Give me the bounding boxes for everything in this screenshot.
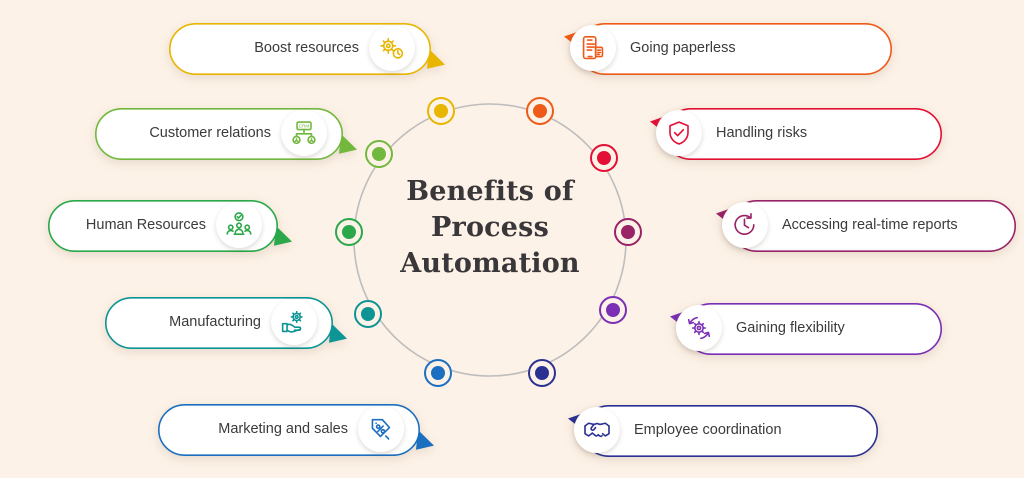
discount-tag-icon [366, 415, 396, 443]
benefit-label-gaining-flexibility: Gaining flexibility [736, 321, 845, 336]
circle-node-manufacturing[interactable] [354, 300, 382, 328]
shield-check-icon [664, 119, 694, 147]
circle-node-going-paperless[interactable] [526, 97, 554, 125]
gears-clock-icon [369, 25, 415, 71]
benefit-label-human-resources: Human Resources [86, 218, 206, 233]
benefit-pill-going-paperless[interactable]: Going paperless [566, 22, 880, 74]
clock-refresh-icon [722, 202, 768, 248]
benefit-pill-human-resources[interactable]: Human Resources [36, 199, 266, 251]
benefit-label-accessing-real-time-reports: Accessing real-time reports [782, 218, 958, 233]
infographic-canvas: Benefits of Process Automation Boost res… [0, 0, 1024, 478]
benefit-pill-handling-risks[interactable]: Handling risks [652, 107, 930, 159]
node-dot-icon [342, 225, 356, 239]
node-dot-icon [621, 225, 635, 239]
page-title: Benefits of Process Automation [372, 174, 608, 282]
benefit-label-customer-relations: Customer relations [149, 126, 271, 141]
node-dot-icon [597, 151, 611, 165]
discount-tag-icon [358, 406, 404, 452]
circle-node-marketing-and-sales[interactable] [424, 359, 452, 387]
hand-gear-icon [271, 299, 317, 345]
hand-gear-icon [279, 308, 309, 336]
circle-node-boost-resources[interactable] [427, 97, 455, 125]
circle-node-human-resources[interactable] [335, 218, 363, 246]
benefit-label-handling-risks: Handling risks [716, 126, 807, 141]
circle-node-gaining-flexibility[interactable] [599, 296, 627, 324]
gear-rotate-icon [684, 314, 714, 342]
benefit-pill-manufacturing[interactable]: Manufacturing [93, 296, 321, 348]
handshake-icon [574, 407, 620, 453]
node-dot-icon [535, 366, 549, 380]
handshake-icon [582, 416, 612, 444]
page-title-line-2: Process [372, 210, 608, 246]
page-title-line-1: Benefits of [372, 174, 608, 210]
benefit-pill-accessing-real-time-reports[interactable]: Accessing real-time reports [718, 199, 1004, 251]
mobile-document-icon [570, 25, 616, 71]
benefit-label-manufacturing: Manufacturing [169, 315, 261, 330]
circle-node-employee-coordination[interactable] [528, 359, 556, 387]
node-dot-icon [361, 307, 375, 321]
benefit-label-marketing-and-sales: Marketing and sales [218, 422, 348, 437]
benefit-label-going-paperless: Going paperless [630, 41, 736, 56]
benefit-pill-marketing-and-sales[interactable]: Marketing and sales [146, 403, 408, 455]
benefit-pill-customer-relations[interactable]: CRM Customer relations [83, 107, 331, 159]
shield-check-icon [656, 110, 702, 156]
benefit-pill-employee-coordination[interactable]: Employee coordination [570, 404, 866, 456]
circle-node-customer-relations[interactable] [365, 140, 393, 168]
node-dot-icon [533, 104, 547, 118]
node-dot-icon [372, 147, 386, 161]
circle-node-handling-risks[interactable] [590, 144, 618, 172]
node-dot-icon [431, 366, 445, 380]
benefit-label-employee-coordination: Employee coordination [634, 423, 782, 438]
page-title-line-3: Automation [372, 246, 608, 282]
clock-refresh-icon [730, 211, 760, 239]
mobile-document-icon [578, 34, 608, 62]
crm-network-icon: CRM [281, 110, 327, 156]
gears-clock-icon [377, 34, 407, 62]
benefit-pill-boost-resources[interactable]: Boost resources [157, 22, 419, 74]
gear-rotate-icon [676, 305, 722, 351]
team-approved-icon [216, 202, 262, 248]
svg-text:CRM: CRM [299, 124, 310, 129]
benefit-label-boost-resources: Boost resources [254, 41, 359, 56]
node-dot-icon [434, 104, 448, 118]
node-dot-icon [606, 303, 620, 317]
benefit-pill-gaining-flexibility[interactable]: Gaining flexibility [672, 302, 930, 354]
circle-node-accessing-real-time-reports[interactable] [614, 218, 642, 246]
crm-network-icon: CRM [289, 119, 319, 147]
team-approved-icon [224, 211, 254, 239]
